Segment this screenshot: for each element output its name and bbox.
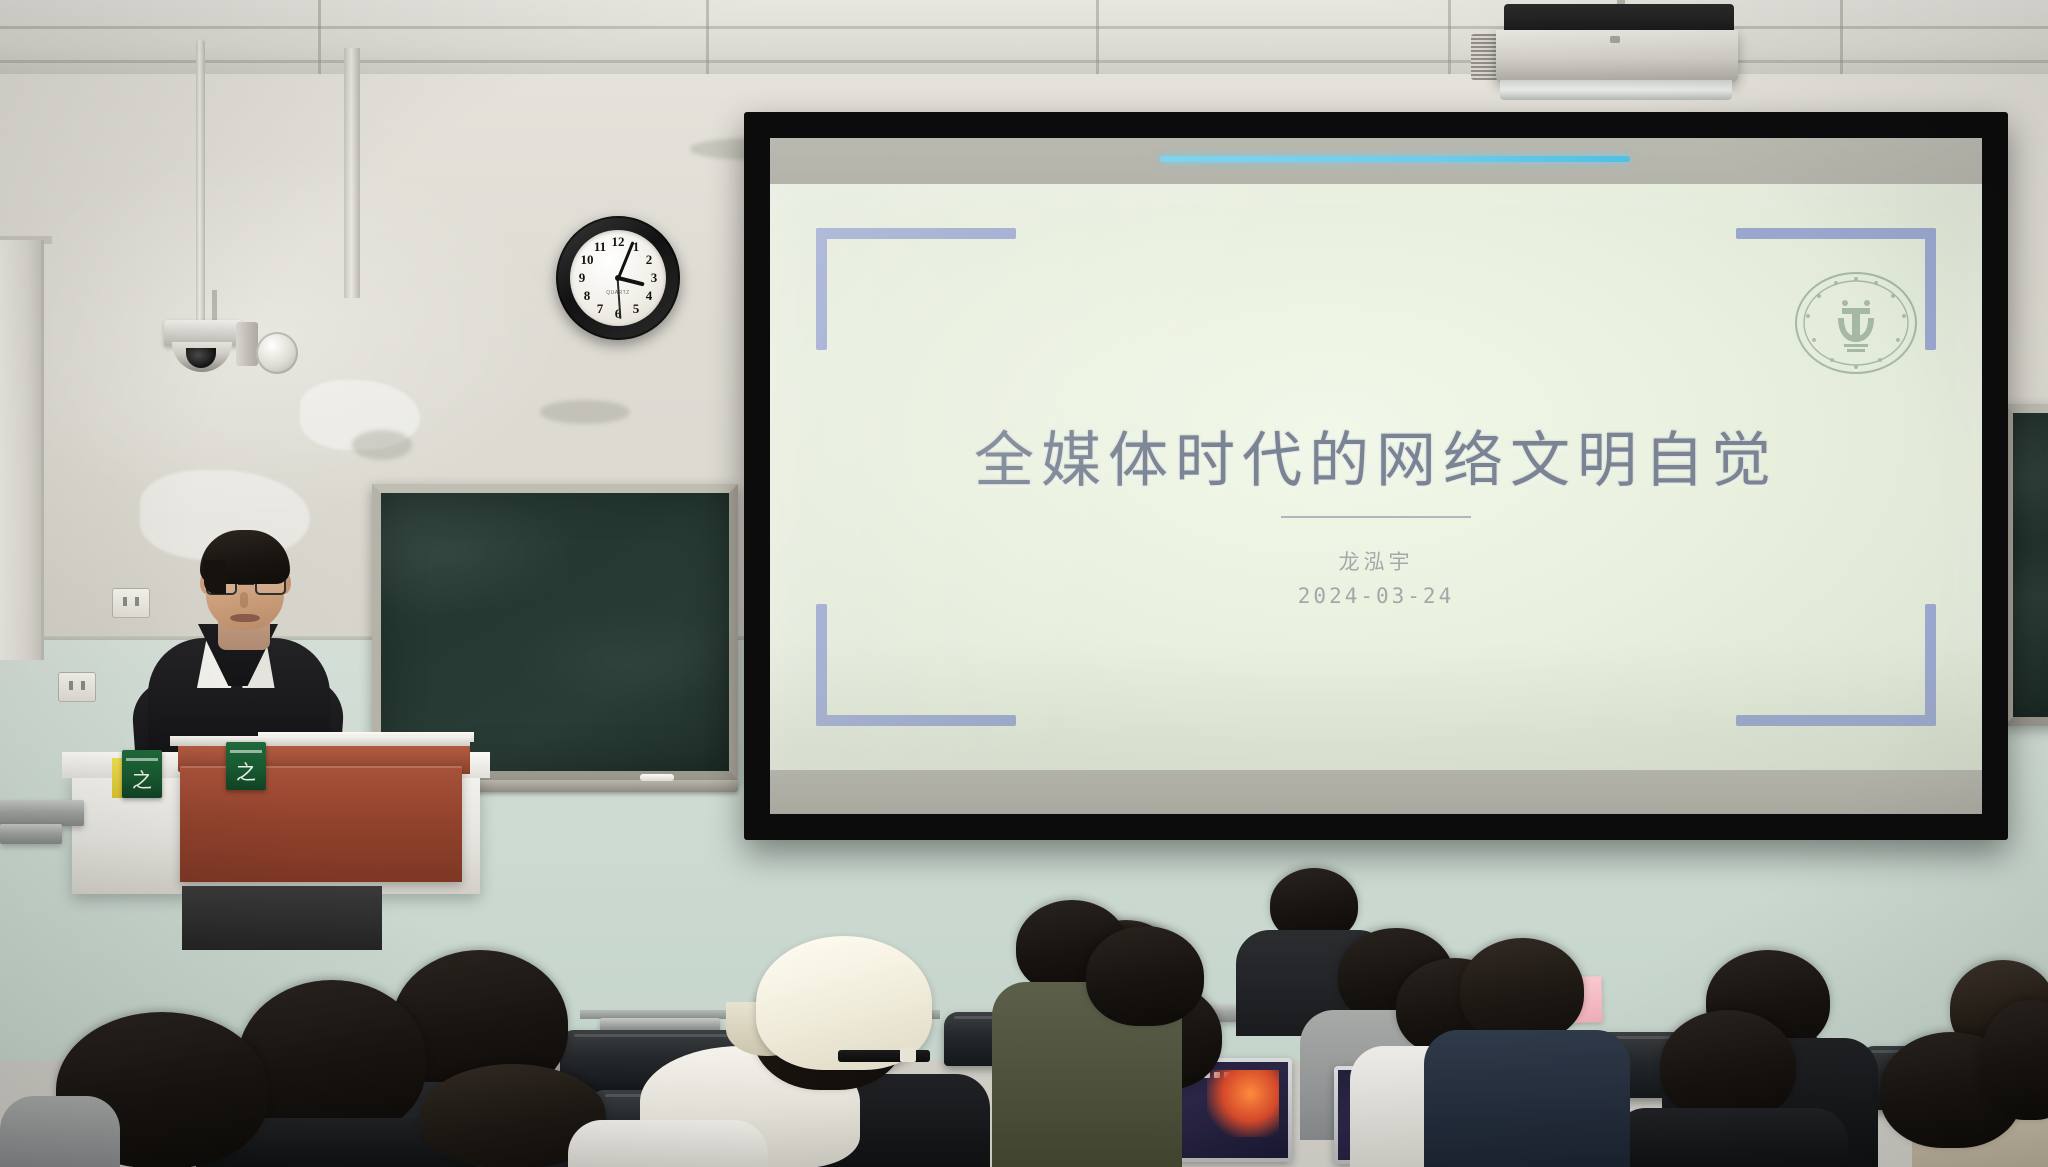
slide-date: 2024-03-24 [770, 584, 1982, 608]
clock-center-pin [615, 275, 621, 281]
corner-bracket-bottom-left [816, 604, 1016, 726]
motion-sensor-icon [256, 332, 298, 374]
wall-scuff [352, 430, 412, 460]
audience-torso [0, 1096, 120, 1167]
cap-strap [838, 1050, 930, 1062]
lectern-front-panel [180, 766, 462, 882]
audience-torso [1612, 1108, 1848, 1167]
clock-number: 11 [592, 240, 608, 254]
clock-number: 6 [610, 307, 626, 321]
audience-torso [1424, 1030, 1630, 1167]
side-counter [0, 800, 84, 826]
clock-number: 5 [628, 302, 644, 316]
slide-divider [1281, 516, 1471, 518]
projector-lens [1500, 80, 1732, 100]
clock-hour-hand [618, 276, 645, 286]
clock-number: 7 [592, 302, 608, 316]
tea-box[interactable]: 之 [226, 742, 266, 790]
camera-bracket [236, 322, 258, 366]
screen-letterbox-bottom [770, 770, 1982, 814]
audience-head [1460, 938, 1584, 1042]
projection-screen-frame: 全媒体时代的网络文明自觉 龙泓宇 2024-03-24 [744, 112, 2008, 840]
chalk-piece[interactable] [640, 774, 674, 781]
lectern-ledge [170, 736, 470, 746]
tea-box-glyph: 之 [226, 756, 266, 785]
clock-number: 9 [574, 271, 590, 285]
side-counter [0, 824, 62, 844]
clock-number: 12 [610, 235, 626, 249]
clock-number: 3 [646, 271, 662, 285]
door-frame [0, 240, 44, 660]
lecture-hall-photo: 12 1 2 3 4 5 6 7 8 9 10 11 QUARTZ [0, 0, 2048, 1167]
wall-conduit [344, 48, 360, 298]
cap-buckle [900, 1048, 916, 1062]
audience-head [1086, 926, 1204, 1026]
audience-head [238, 980, 426, 1138]
clock-face: 12 1 2 3 4 5 6 7 8 9 10 11 QUARTZ [570, 230, 666, 326]
projection-screen: 全媒体时代的网络文明自觉 龙泓宇 2024-03-24 [770, 138, 1982, 814]
podium-shelf-shadow [182, 886, 382, 950]
power-outlet[interactable] [58, 672, 96, 702]
chalkboard [2004, 404, 2048, 726]
clock-number: 10 [579, 253, 595, 267]
corner-bracket-top-left [816, 228, 1016, 350]
wall-conduit [196, 40, 205, 330]
audience-torso [568, 1120, 768, 1167]
ceiling [0, 0, 2048, 78]
camera-lens-icon [186, 348, 216, 368]
slide-progress-bar[interactable] [1160, 156, 1630, 162]
power-outlet[interactable] [112, 588, 150, 618]
clock-number: 2 [641, 253, 657, 267]
slide-author: 龙泓宇 [770, 546, 1982, 576]
corner-bracket-bottom-right [1736, 604, 1936, 726]
presentation-slide: 全媒体时代的网络文明自觉 龙泓宇 2024-03-24 [770, 184, 1982, 772]
wall-scuff [540, 400, 630, 424]
university-seal-logo [1792, 268, 1920, 378]
tea-box-glyph: 之 [122, 764, 162, 793]
presenter-mouth [230, 614, 260, 622]
projector-indicator [1610, 36, 1620, 43]
slide-title: 全媒体时代的网络文明自觉 [770, 412, 1982, 499]
tea-box[interactable]: 之 [122, 750, 162, 798]
wall-clock: 12 1 2 3 4 5 6 7 8 9 10 11 QUARTZ [556, 216, 680, 340]
presenter-nose [240, 592, 248, 608]
camera-mount [212, 290, 217, 324]
audience-head [1660, 1010, 1796, 1122]
